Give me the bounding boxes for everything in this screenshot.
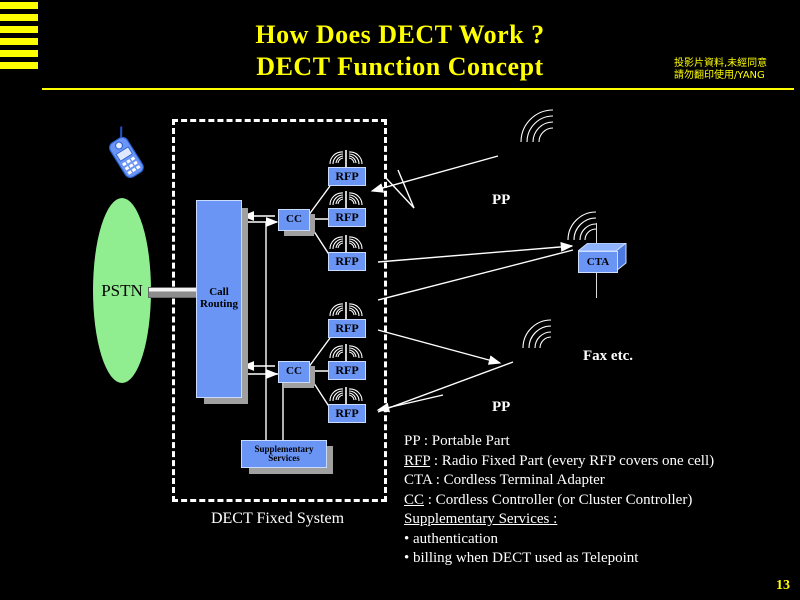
legend-term-4: Supplementary Services [404,511,549,527]
legend-block: PP : Portable PartRFP : Radio Fixed Part… [404,432,796,569]
legend-term-1: RFP [404,453,430,469]
legend-desc-2: : Cordless Terminal Adapter [432,472,605,488]
legend-desc-0: : Portable Part [420,433,510,449]
legend-line-2: CTA : Cordless Terminal Adapter [404,471,796,491]
legend-line-4: Supplementary Services : [404,510,796,530]
rfp-1-1[interactable]: RFP [328,167,366,186]
legend-desc-4: : [549,511,557,527]
copyright-notice: 投影片資料,未經同意 請勿翻印使用/YANG [674,58,794,82]
legend-line-6: • billing when DECT used as Telepoint [404,549,796,569]
supplementary-label-line2: Services [268,453,300,463]
cluster-controller-2[interactable]: CC [278,361,310,383]
label-pp-bottom: PP [492,399,510,416]
call-routing-label-line2: Routing [200,298,238,310]
legend-line-3: CC : Cordless Controller (or Cluster Con… [404,491,796,511]
pstn-node: PSTN [93,198,151,383]
legend-term-2: CTA [404,472,432,488]
legend-line-0: PP : Portable Part [404,432,796,452]
legend-desc-5: • authentication [404,531,498,547]
label-fax-etc: Fax etc. [583,348,633,365]
call-routing-block[interactable]: Call Routing [196,200,242,398]
legend-line-5: • authentication [404,530,796,550]
legend-desc-3: : Cordless Controller (or Cluster Contro… [424,492,692,508]
rfp-2-2[interactable]: RFP [328,361,366,380]
title-divider-rule [42,88,794,90]
dect-fixed-system-caption: DECT Fixed System [150,510,405,528]
supplementary-services-block[interactable]: Supplementary Services [241,440,327,468]
slide-title-line1: How Does DECT Work ? [0,20,800,50]
cluster-controller-1[interactable]: CC [278,209,310,231]
logo-stripe [0,2,38,9]
call-routing-label-line1: Call [209,286,229,298]
rfp-2-1[interactable]: RFP [328,319,366,338]
copyright-line2: 請勿翻印使用/YANG [674,70,794,82]
cordless-handset-icon [96,124,156,182]
copyright-line1: 投影片資料,未經同意 [674,58,794,70]
legend-desc-1: : Radio Fixed Part (every RFP covers one… [430,453,714,469]
rfp-1-2[interactable]: RFP [328,208,366,227]
rfp-1-3[interactable]: RFP [328,252,366,271]
legend-term-3: CC [404,492,424,508]
page-number: 13 [776,578,790,594]
label-pp-top: PP [492,192,510,209]
cta-label: CTA [578,251,618,273]
rfp-2-3[interactable]: RFP [328,404,366,423]
legend-line-1: RFP : Radio Fixed Part (every RFP covers… [404,452,796,472]
legend-desc-6: • billing when DECT used as Telepoint [404,550,638,566]
pstn-trunk-link [148,287,198,298]
legend-term-0: PP [404,433,420,449]
